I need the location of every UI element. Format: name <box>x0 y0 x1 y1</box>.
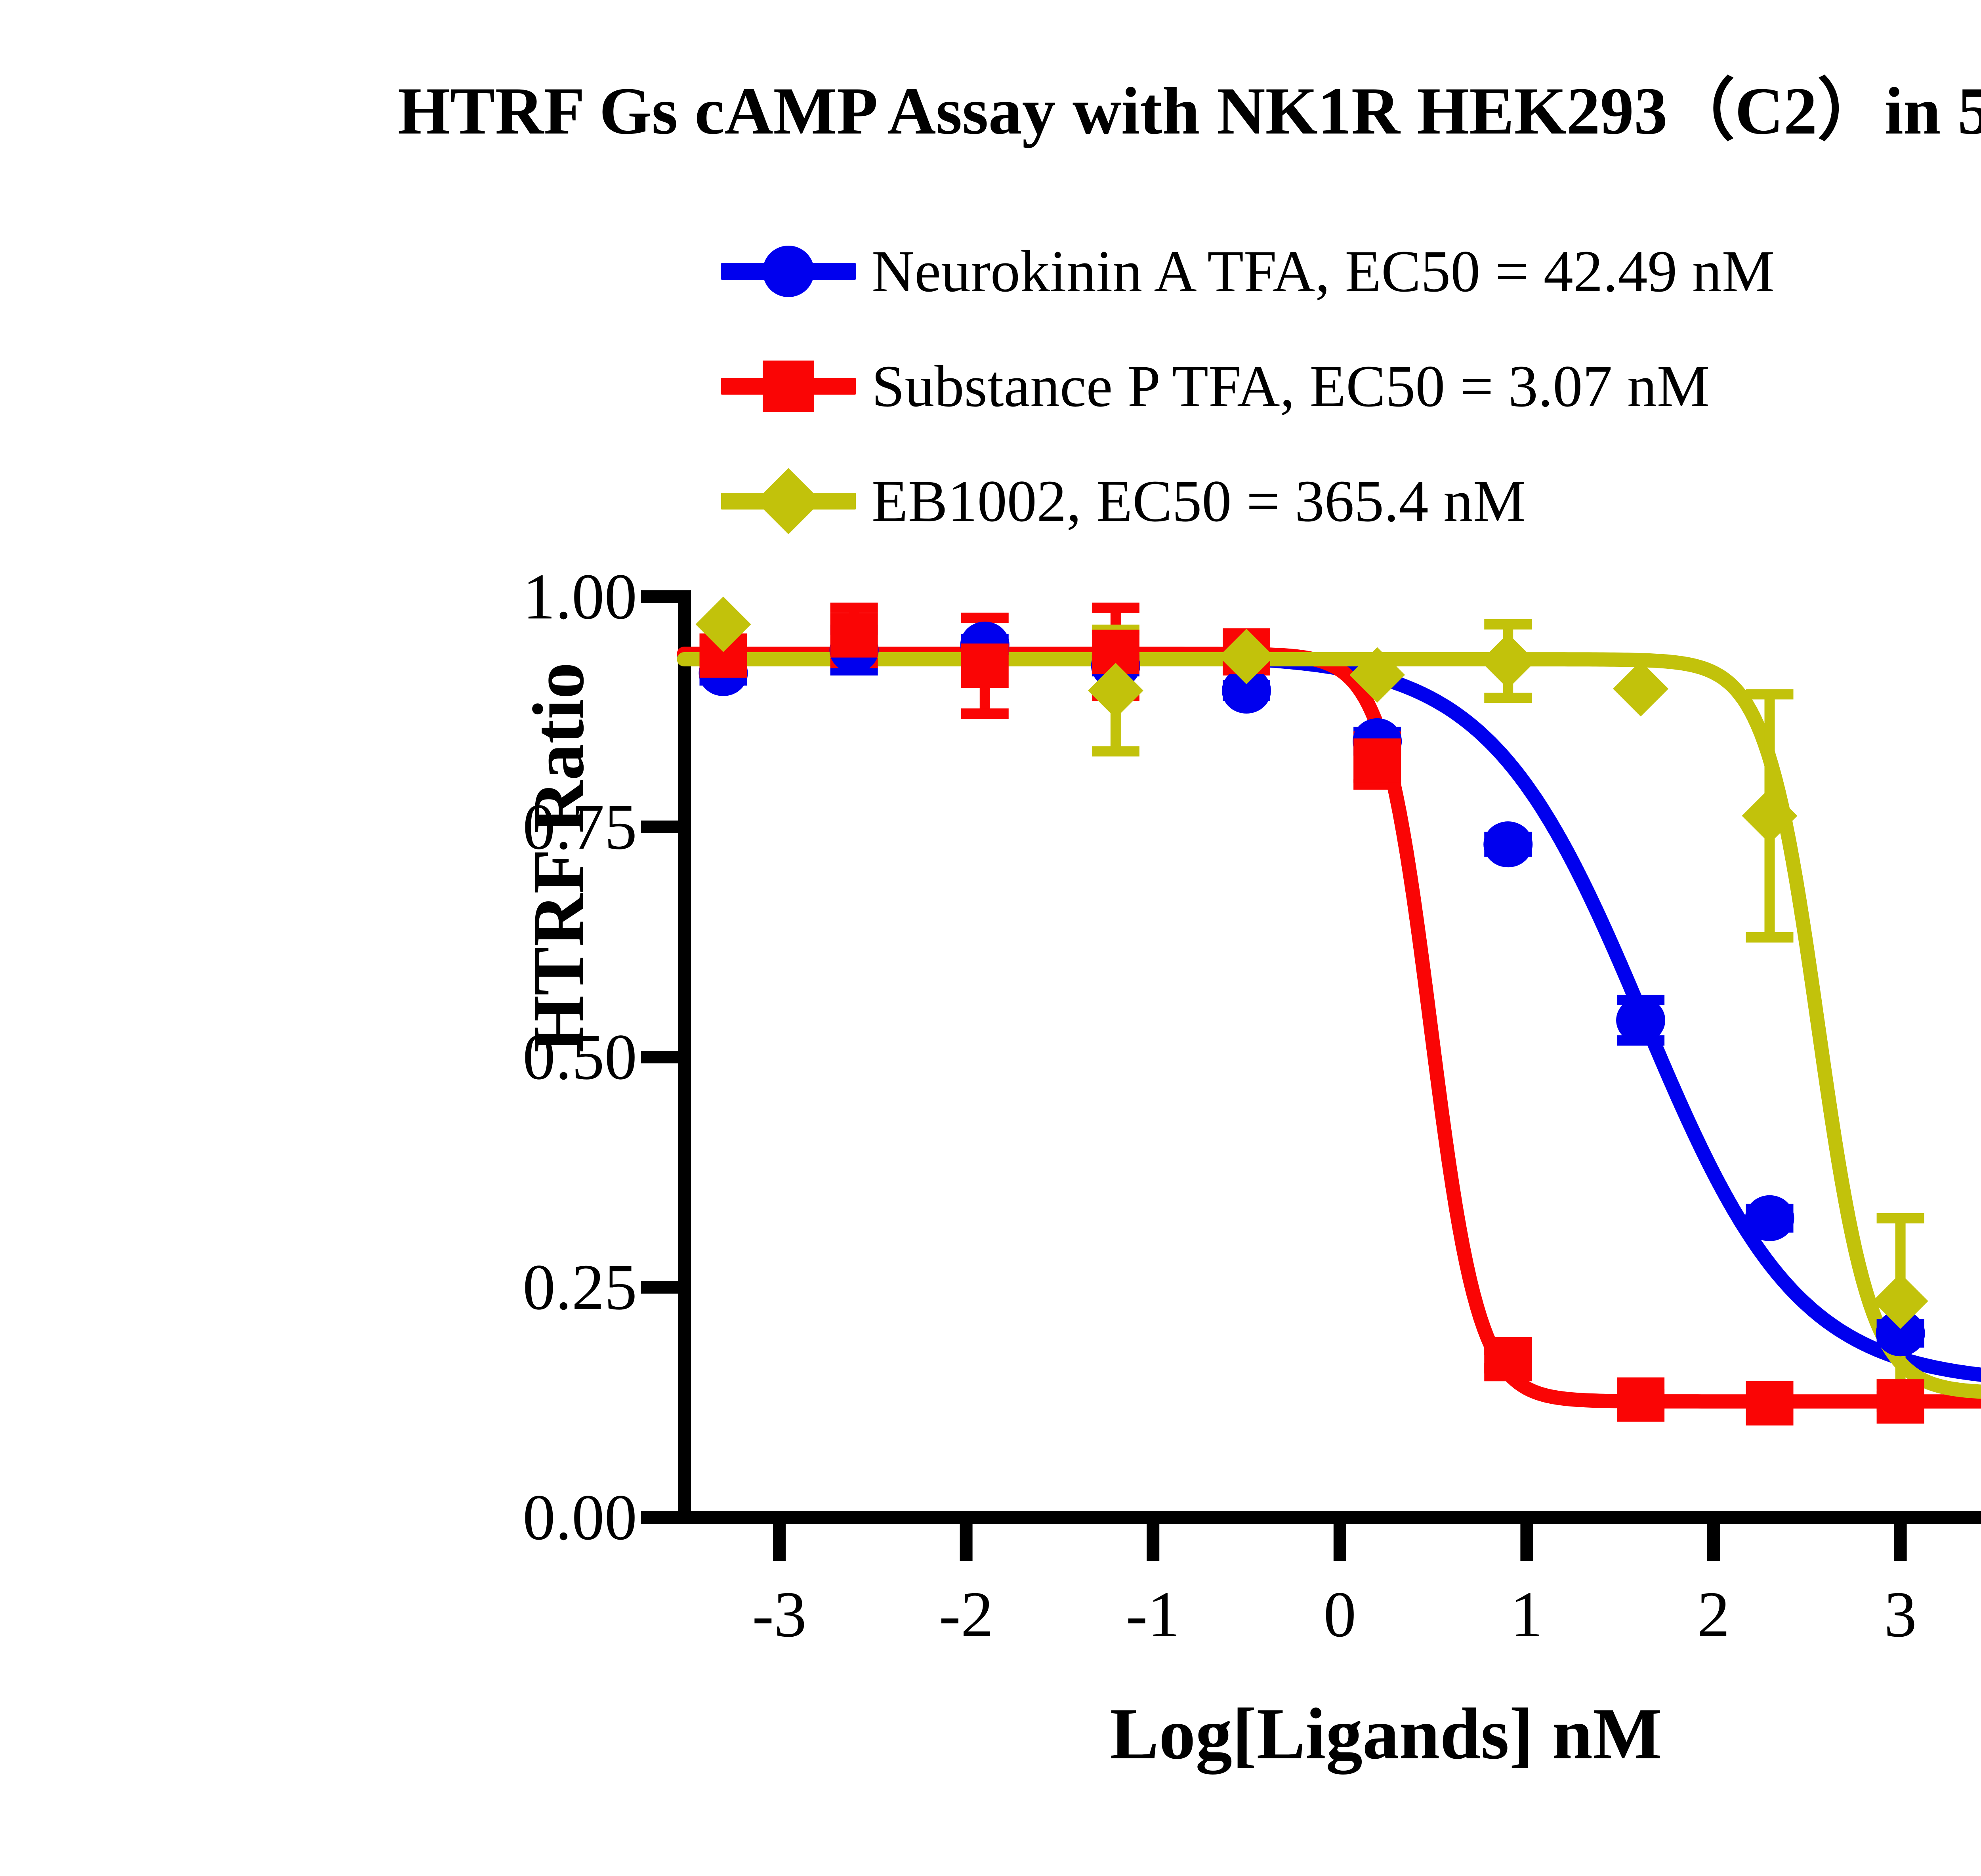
x-axis-label: Log[Ligands] nM <box>685 1692 1981 1776</box>
x-tick-label: -3 <box>720 1577 839 1652</box>
fit-curve-neurokinin-a-tfa <box>684 655 1981 1382</box>
axis-spines <box>685 597 1981 1517</box>
x-tick-label: -1 <box>1094 1577 1212 1652</box>
data-point-circle <box>1616 997 1665 1043</box>
x-tick-label: 2 <box>1654 1577 1773 1652</box>
y-tick-label: 0.50 <box>415 1019 637 1095</box>
data-point-square <box>1484 1337 1532 1381</box>
data-point-diamond <box>1480 634 1536 689</box>
x-tick-label: -2 <box>907 1577 1026 1652</box>
data-point-square <box>1877 1379 1924 1424</box>
data-point-square <box>1353 739 1401 783</box>
data-point-square <box>961 643 1009 688</box>
x-tick-label: 3 <box>1841 1577 1960 1652</box>
x-tick-label: 1 <box>1467 1577 1586 1652</box>
y-axis-label: HTRF Ratio <box>517 696 601 1053</box>
data-point-square <box>1617 1378 1664 1422</box>
y-tick-label: 0.75 <box>415 789 637 865</box>
data-point-diamond <box>1613 661 1668 716</box>
y-tick-label: 1.00 <box>415 559 637 634</box>
x-tick-label: 0 <box>1281 1577 1399 1652</box>
data-point-circle <box>1483 821 1533 867</box>
data-point-circle <box>1745 1195 1794 1241</box>
y-tick-label: 0.25 <box>415 1250 637 1325</box>
data-point-square <box>1746 1381 1793 1426</box>
data-point-square <box>830 613 878 658</box>
y-tick-label: 0.00 <box>415 1480 637 1555</box>
